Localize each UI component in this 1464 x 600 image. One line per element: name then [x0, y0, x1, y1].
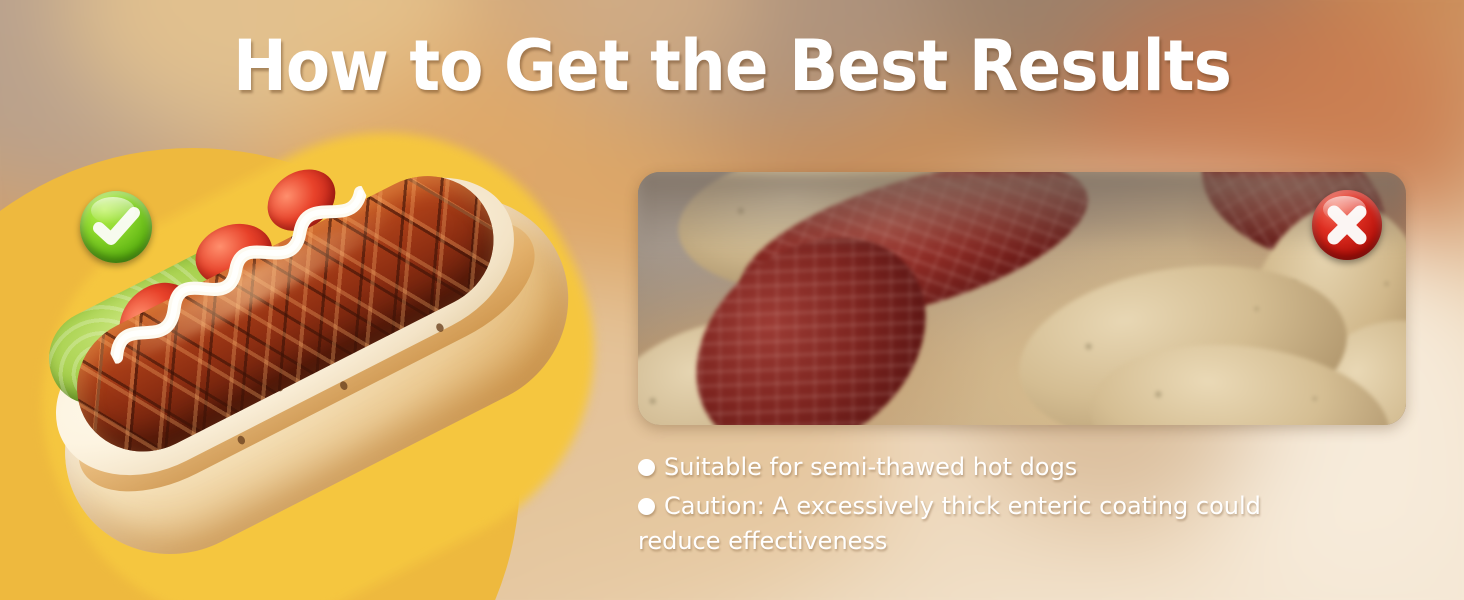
- list-item-label: Suitable for semi-thawed hot dogs: [664, 453, 1077, 481]
- bad-example-photo: [638, 172, 1406, 425]
- cross-circle-icon: [1312, 190, 1382, 260]
- list-item: Caution: A excessively thick enteric coa…: [638, 489, 1338, 559]
- promo-banner: How to Get the Best Results Suitable for…: [0, 0, 1464, 600]
- photo-top-blur: [638, 172, 1406, 250]
- bullet-list: Suitable for semi-thawed hot dogs Cautio…: [638, 450, 1338, 563]
- check-circle-icon: [80, 191, 152, 263]
- list-item-label: Caution: A excessively thick enteric coa…: [638, 492, 1261, 555]
- bullet-dot-icon: [638, 459, 655, 476]
- list-item: Suitable for semi-thawed hot dogs: [638, 450, 1338, 485]
- bullet-dot-icon: [638, 498, 655, 515]
- page-title: How to Get the Best Results: [59, 26, 1406, 106]
